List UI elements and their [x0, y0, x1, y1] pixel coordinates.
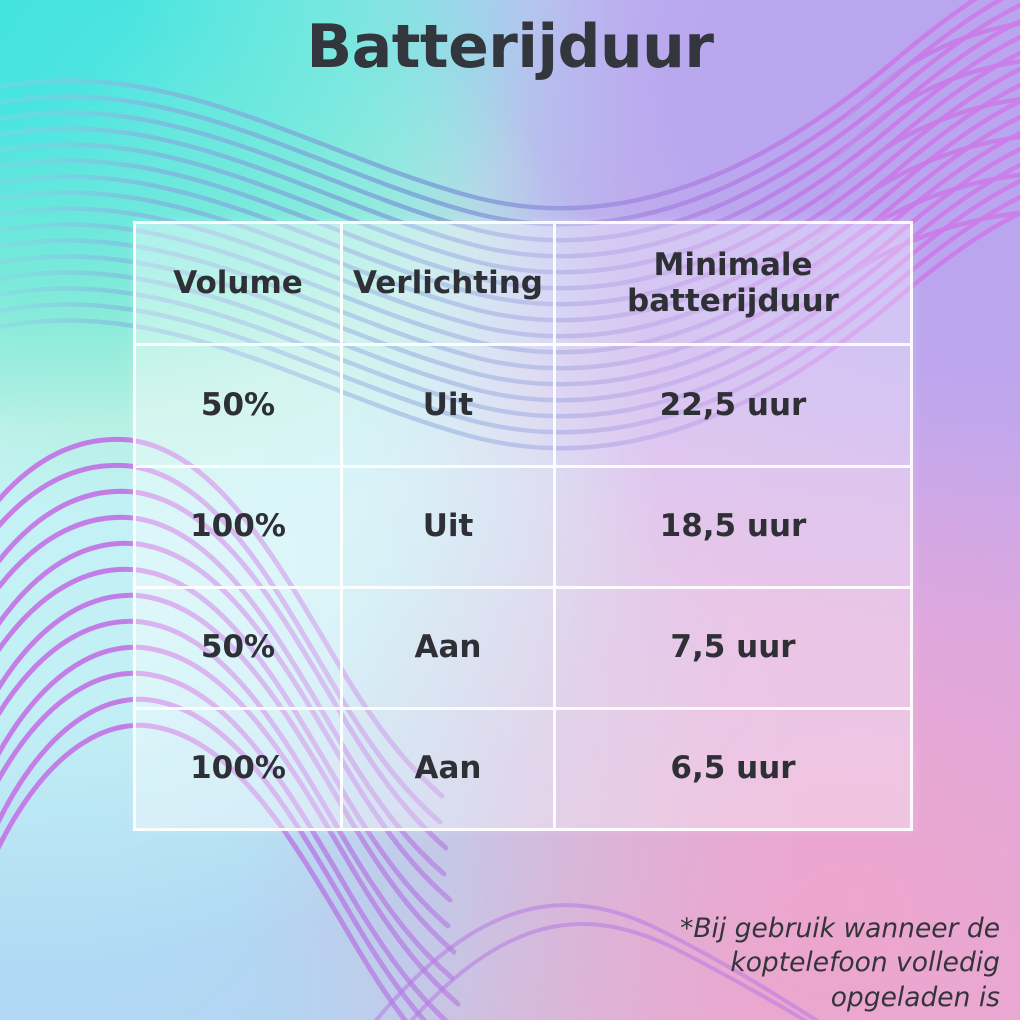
- cell-batterijduur: 6,5 uur: [556, 710, 910, 828]
- cell-batterijduur: 7,5 uur: [556, 589, 910, 707]
- cell-verlichting: Aan: [343, 710, 556, 828]
- table-row: 50% Aan 7,5 uur: [136, 589, 910, 710]
- table-row: 100% Uit 18,5 uur: [136, 468, 910, 589]
- column-header-volume: Volume: [136, 224, 343, 343]
- footnote-line-3: opgeladen is: [580, 981, 1000, 1015]
- cell-batterijduur: 22,5 uur: [556, 346, 910, 464]
- column-header-minimale-batterijduur: Minimale batterijduur: [556, 224, 910, 343]
- cell-volume: 100%: [136, 710, 343, 828]
- page-title: Batterijduur: [0, 16, 1020, 79]
- footnote-line-1: *Bij gebruik wanneer de: [580, 912, 1000, 946]
- cell-batterijduur: 18,5 uur: [556, 468, 910, 586]
- footnote: *Bij gebruik wanneer de koptelefoon voll…: [580, 912, 1000, 1015]
- column-header-line-2: batterijduur: [627, 283, 839, 319]
- cell-verlichting: Aan: [343, 589, 556, 707]
- table-row: 100% Aan 6,5 uur: [136, 710, 910, 828]
- cell-verlichting: Uit: [343, 468, 556, 586]
- table-row: 50% Uit 22,5 uur: [136, 346, 910, 467]
- cell-volume: 50%: [136, 589, 343, 707]
- cell-verlichting: Uit: [343, 346, 556, 464]
- table-header-row: Volume Verlichting Minimale batterijduur: [136, 224, 910, 346]
- footnote-line-2: koptelefoon volledig: [580, 946, 1000, 980]
- column-header-line-1: Minimale: [653, 247, 812, 283]
- column-header-verlichting: Verlichting: [343, 224, 556, 343]
- cell-volume: 50%: [136, 346, 343, 464]
- cell-volume: 100%: [136, 468, 343, 586]
- battery-life-table: Volume Verlichting Minimale batterijduur…: [133, 221, 913, 831]
